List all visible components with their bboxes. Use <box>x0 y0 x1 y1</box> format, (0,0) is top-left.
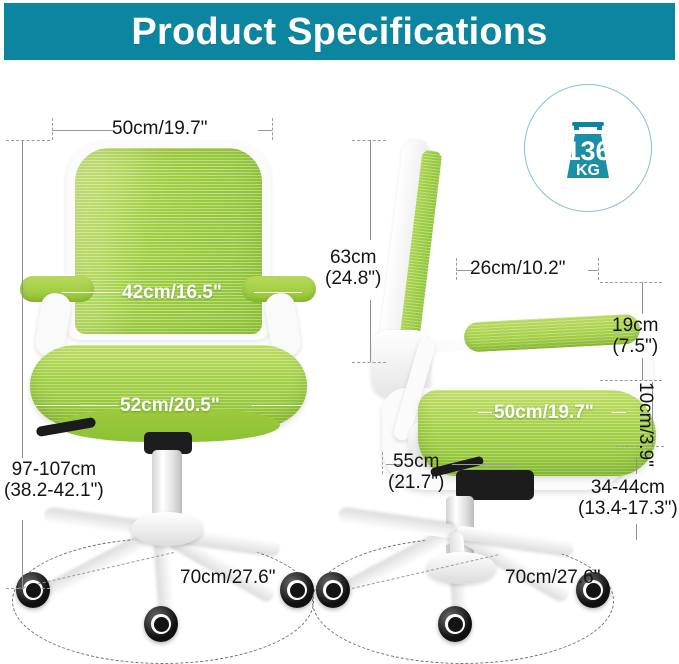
dim-line <box>22 520 23 588</box>
dim-tick <box>456 258 457 280</box>
dim-seat-width: 52cm/20.5" <box>120 395 220 417</box>
armrest-right <box>234 276 318 310</box>
dim-armrest-height: 19cm (7.5") <box>612 316 658 357</box>
armrest-left <box>18 276 102 310</box>
dim-line <box>636 524 637 540</box>
dim-line-2: (7.5") <box>612 337 658 358</box>
dim-tick <box>272 118 273 140</box>
dim-line-2: (38.2-42.1") <box>4 481 104 502</box>
dim-line-1: 34-44cm <box>578 478 678 499</box>
dim-tick <box>352 140 386 141</box>
dim-front-base-diameter: 70cm/27.6" <box>180 568 275 589</box>
dim-line <box>452 464 516 465</box>
dim-seat-thickness: 10cm/3.9" <box>634 382 655 467</box>
dim-line-2: (21.7") <box>388 473 444 494</box>
dim-line-1: 55cm <box>388 452 444 473</box>
dim-line-1: 97-107cm <box>4 460 104 481</box>
dim-backrest-width-outer: 50cm/19.7" <box>112 119 207 140</box>
header-banner: Product Specifications <box>4 3 675 60</box>
dim-line-2: (24.8") <box>325 269 381 290</box>
dim-line <box>588 270 598 271</box>
dim-line <box>252 405 302 406</box>
dim-tick <box>600 282 662 283</box>
dim-backrest-height: 63cm (24.8") <box>325 248 381 289</box>
caster-wheel <box>438 606 472 642</box>
page-title: Product Specifications <box>131 13 547 51</box>
backrest <box>378 139 443 352</box>
dim-backrest-width-inner: 42cm/16.5" <box>122 282 222 304</box>
dim-line <box>636 458 637 474</box>
dim-line <box>52 130 114 131</box>
dim-line-1: 19cm <box>612 316 658 337</box>
dim-tick <box>52 118 53 140</box>
caster-wheel <box>144 606 178 642</box>
dim-line <box>612 412 626 413</box>
front-view-chair <box>18 140 318 620</box>
dim-line <box>642 358 643 380</box>
dim-line-2: (13.4-17.3") <box>578 499 678 520</box>
dim-tick <box>6 140 50 141</box>
caster-wheel <box>316 572 350 608</box>
dim-overall-height: 97-107cm (38.2-42.1") <box>4 460 104 501</box>
dim-tick <box>352 362 386 363</box>
dim-line <box>370 300 371 362</box>
dim-side-base-diameter: 70cm/27.6" <box>505 568 600 589</box>
dim-line <box>478 412 492 413</box>
dim-line <box>642 282 643 314</box>
base-hub <box>131 512 203 546</box>
caster-wheel <box>280 572 314 608</box>
dim-seat-depth: 50cm/19.7" <box>494 402 594 424</box>
dim-line <box>36 405 118 406</box>
gas-cylinder <box>152 450 182 520</box>
dim-seat-frame-depth: 55cm (21.7") <box>388 452 444 493</box>
dim-line <box>370 140 371 240</box>
dim-line <box>254 292 302 293</box>
dim-armrest-length: 26cm/10.2" <box>470 259 565 280</box>
dim-tick <box>382 452 383 474</box>
dim-tick <box>600 380 662 381</box>
dim-line-1: 63cm <box>325 248 381 269</box>
dim-line <box>62 292 120 293</box>
dim-tick <box>598 258 599 280</box>
dim-line <box>22 140 23 458</box>
base-leg <box>338 509 457 539</box>
dim-seat-height: 34-44cm (13.4-17.3") <box>578 478 678 519</box>
dim-line <box>258 130 272 131</box>
